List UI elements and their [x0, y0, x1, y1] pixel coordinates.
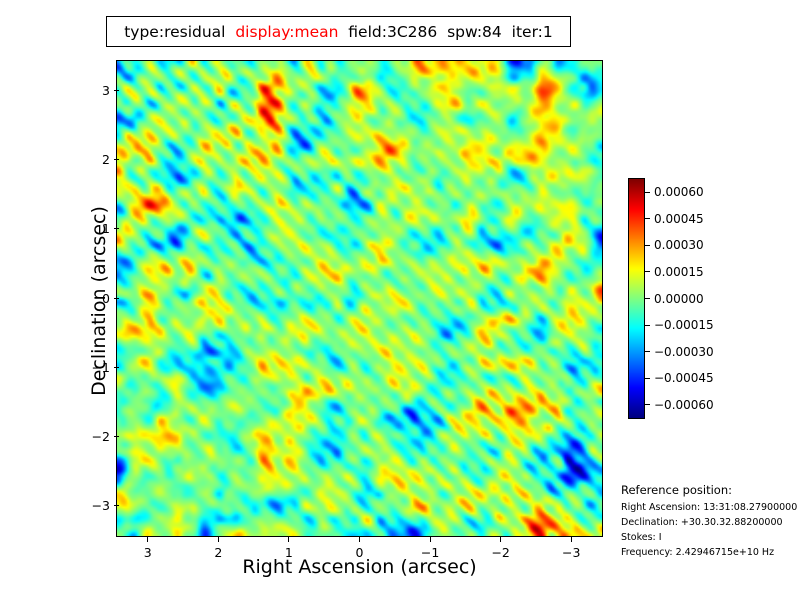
colorbar-tick-label: 0.00015: [654, 265, 704, 279]
residual-image-plot[interactable]: [116, 60, 603, 537]
title-segment-field: field:3C286: [348, 23, 437, 41]
colorbar-tick-mark: [645, 325, 650, 326]
colorbar-tick-label: −0.00045: [654, 371, 714, 385]
x-tick-mark: [218, 537, 219, 542]
colorbar[interactable]: [628, 178, 645, 419]
y-tick-mark: [114, 367, 119, 368]
title-segment-display: display:mean: [235, 23, 338, 41]
x-tick-mark: [571, 537, 572, 542]
colorbar-tick-mark: [645, 271, 650, 272]
colorbar-tick-mark: [645, 404, 650, 405]
residual-image-canvas[interactable]: [117, 61, 602, 536]
colorbar-tick-label: −0.00030: [654, 345, 714, 359]
x-tick-mark: [500, 537, 501, 542]
title-segment-type: type:residual: [124, 23, 225, 41]
y-tick-mark: [114, 436, 119, 437]
title-separator: [502, 23, 512, 41]
x-tick-mark: [288, 537, 289, 542]
colorbar-tick-label: 0.00045: [654, 212, 704, 226]
colorbar-tick-label: 0.00060: [654, 185, 704, 199]
colorbar-tick-mark: [645, 218, 650, 219]
colorbar-tick-label: 0.00030: [654, 238, 704, 252]
reference-declination: Declination: +30.30.32.88200000: [621, 517, 799, 528]
colorbar-tick-label: 0.00000: [654, 292, 704, 306]
title-separator: [338, 23, 348, 41]
y-tick-mark: [114, 159, 119, 160]
colorbar-tick-mark: [645, 298, 650, 299]
colorbar-tick-4: 0.00000: [645, 292, 704, 306]
colorbar-tick-1: 0.00045: [645, 212, 704, 226]
x-tick-mark: [147, 537, 148, 542]
colorbar-tick-2: 0.00030: [645, 238, 704, 252]
colorbar-tick-0: 0.00060: [645, 185, 704, 199]
image-info-title-bar: type:residual display:mean field:3C286 s…: [106, 16, 571, 47]
reference-position-info: Reference position: Right Ascension: 13:…: [621, 483, 799, 562]
title-segment-spw: spw:84: [447, 23, 502, 41]
colorbar-tick-mark: [645, 351, 650, 352]
x-axis-label: Right Ascension (arcsec): [116, 556, 603, 578]
y-tick-mark: [114, 505, 119, 506]
reference-right-ascension: Right Ascension: 13:31:08.27900000: [621, 502, 799, 513]
y-tick-mark: [114, 298, 119, 299]
x-tick-mark: [359, 537, 360, 542]
colorbar-tick-mark: [645, 245, 650, 246]
y-tick-mark: [114, 228, 119, 229]
colorbar-tick-label: −0.00015: [654, 318, 714, 332]
title-segment-iter: iter:1: [512, 23, 553, 41]
colorbar-tick-6: −0.00030: [645, 345, 714, 359]
y-axis-label: Declination (arcsec): [88, 61, 110, 541]
colorbar-tick-mark: [645, 378, 650, 379]
y-tick-mark: [114, 90, 119, 91]
colorbar-tick-label: −0.00060: [654, 398, 714, 412]
colorbar-tick-3: 0.00015: [645, 265, 704, 279]
x-tick-mark: [430, 537, 431, 542]
colorbar-tick-8: −0.00060: [645, 398, 714, 412]
colorbar-gradient: [628, 178, 645, 419]
title-separator: [225, 23, 235, 41]
colorbar-tick-mark: [645, 192, 650, 193]
reference-stokes: Stokes: I: [621, 532, 799, 543]
reference-position-heading: Reference position:: [621, 483, 799, 497]
title-separator: [437, 23, 447, 41]
colorbar-tick-7: −0.00045: [645, 371, 714, 385]
colorbar-tick-5: −0.00015: [645, 318, 714, 332]
reference-frequency: Frequency: 2.42946715e+10 Hz: [621, 547, 799, 558]
